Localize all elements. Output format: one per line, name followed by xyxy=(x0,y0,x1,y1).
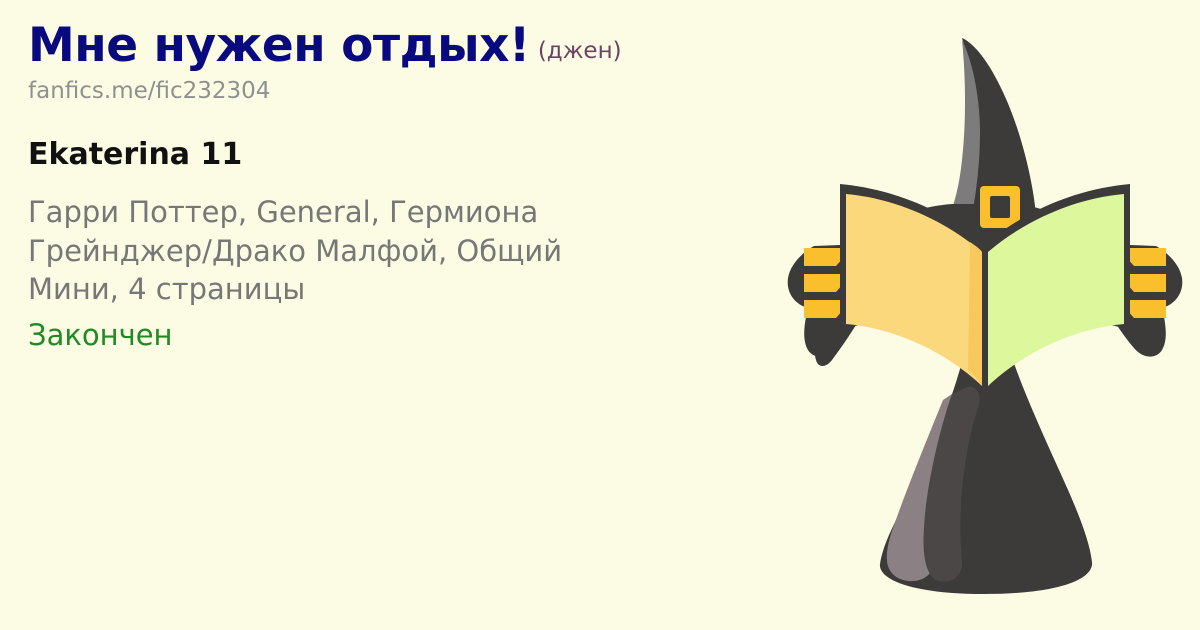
author-name[interactable]: Ekaterina 11 xyxy=(28,137,818,172)
fic-url[interactable]: fanfics.me/fic232304 xyxy=(28,78,818,104)
book-spine xyxy=(982,250,988,394)
status-badge: Закончен xyxy=(28,316,818,355)
title-row: Мне нужен отдых!(джен) xyxy=(28,22,818,69)
meta-line-fandom-genre: Гарри Поттер, General, Гермиона xyxy=(28,193,818,232)
book-page-left-edge xyxy=(968,242,982,386)
fanfic-preview-card: Мне нужен отдых!(джен) fanfics.me/fic232… xyxy=(0,0,1200,630)
rating-label: (джен) xyxy=(538,38,622,64)
meta-line-pairing-category: Грейнджер/Драко Малфой, Общий xyxy=(28,232,818,271)
meta-line-size-pages: Мини, 4 страницы xyxy=(28,270,818,309)
fic-info-column: Мне нужен отдых!(джен) fanfics.me/fic232… xyxy=(28,22,818,354)
page-title: Мне нужен отдых! xyxy=(28,18,530,73)
wizard-reading-illustration xyxy=(774,8,1194,628)
wizard-reading-svg xyxy=(774,8,1194,628)
hat-buckle-hole xyxy=(990,196,1010,218)
fic-metadata: Гарри Поттер, General, Гермиона Грейндже… xyxy=(28,193,818,354)
